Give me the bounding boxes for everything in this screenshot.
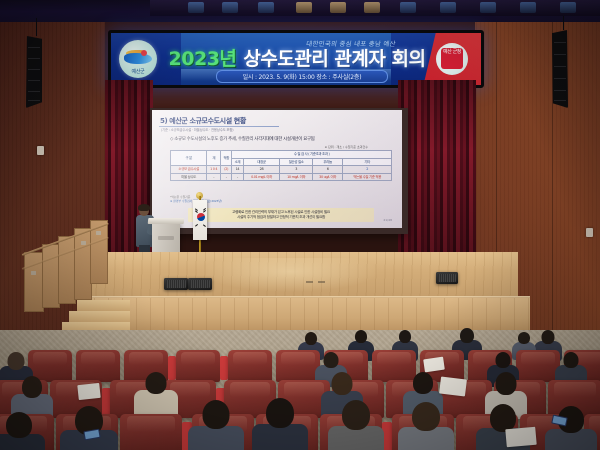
stage-light [520,2,536,13]
th-ecoli: 대장균 [243,158,280,166]
row-label: 소규모 급수시설 [171,166,207,174]
attendee [400,402,452,450]
stamp-label: 예산 군청 [443,50,461,67]
handout-paper [505,427,536,448]
cell: 먹는물 수질 기준 적용 [343,173,392,181]
stage-light [440,2,456,13]
th-division: 구 분 [171,151,207,166]
handout-paper [439,376,467,396]
stage-front-panel [80,298,530,332]
seat[interactable] [176,350,220,382]
stage-light [258,2,274,13]
cell: - [207,173,221,181]
seat-cushion [220,356,228,380]
table-header-row: 구 분 계 적합 수 질 검 사 ( 기준초과 초과 ) [171,151,392,159]
stage-light-pool [200,258,380,292]
yesan-stamp-icon: 예산 군청 [433,37,475,79]
slide-page-number: 21/48 [383,218,392,222]
auditorium-photo: 예산군 대한민국의 중심 내포 충남 예산 2023년 상수도관리 관계자 회의… [0,0,600,450]
stage-light [560,2,576,13]
line-array-speaker-left [26,36,42,108]
seat[interactable] [276,350,320,382]
stage-light [188,2,204,13]
slide-summary-box: 고령화로 인한 관리인력의 부재가 있고 노후된 시설로 인한 시설정비 필요 … [188,208,374,222]
th-nitrate: 질산성 질소 [280,158,312,166]
cell: 14 [232,166,243,174]
banner-title: 상수도관리 관계자 회의 [243,44,425,71]
floor-monitor-speaker [188,278,212,290]
cell: 0.01 mg/L 이하 [243,173,280,181]
line-array-speaker-right [552,30,568,108]
cell: - [221,173,232,181]
cell: (2) [221,166,232,174]
podium-emblem [158,236,174,240]
banner-subtitle-pill: 일시 : 2023. 5. 9(화) 15:00 장소 : 주사실(2층) [216,70,388,83]
attendee [330,400,382,450]
table-row: 소규모 급수시설 1 0 4 (2) 14 28 3 6 2 [171,166,392,174]
podium-top [148,218,185,224]
stage-mark [306,281,313,283]
attendee [254,398,306,450]
projection-screen: 5) 예산군 소규모수도시설 현황 (기준 : 소규모급수시설 · 마을상수도 … [152,110,402,228]
stage-light [222,2,238,13]
stage-light [296,2,312,13]
stage-curtain-right [398,80,476,280]
banner-title-row: 2023년 상수도관리 관계자 회의 [147,45,447,69]
th-total: 계 [207,151,221,166]
slide-subtitle: (기준 : 소규모급수시설 · 마을상수도 · 전용상수도 포함) [161,127,233,132]
banner-year: 2023년 [169,44,237,71]
table-row: 마을 상수도 - - - 0.01 mg/L 이하 10 mg/L 이하 30 … [171,173,392,181]
stage-mark [318,281,325,283]
th-uranium: 우라늄 [312,158,343,166]
slide-title: 5) 예산군 소규모수도시설 현황 [160,116,246,126]
th-etc: 기타 [343,158,392,166]
cell: 6 [312,166,343,174]
cell: 30 ug/L 이하 [312,173,343,181]
attendee [190,400,242,450]
cell: - [232,173,243,181]
attendee [62,406,116,450]
slide-bullet: ◇ 소규모 수도시설의 노후도 증가 추세, 수질관리 사각지대에 대한 시설개… [170,136,315,142]
slide-table: 구 분 계 적합 수 질 검 사 ( 기준초과 초과 ) 소계 대장균 질산성 … [170,150,392,181]
handout-paper [423,357,445,373]
seat[interactable] [228,350,272,382]
attendee [546,406,596,450]
cell: 28 [243,166,280,174]
wall-outlet [37,146,44,155]
korean-national-flag-icon [193,200,207,240]
attendee [136,372,176,416]
stage-light [330,2,346,13]
seat[interactable] [120,414,182,450]
attendee [0,412,44,450]
stage-light [400,2,416,13]
wall-outlet [586,228,593,237]
slide-unit-note: ※ 단위 : 개소 / 수질기준 초과건수 [325,145,368,149]
handout-paper [77,383,100,400]
th-subtotal: 소계 [232,158,243,166]
summary-line: 시설의 주기적 점검과 정밀하고 안정적 기준치 초과 개선이 필요함 [191,215,371,220]
row-label: 마을 상수도 [171,173,207,181]
logo-label: 예산군 [119,68,157,75]
th-group: 수 질 검 사 ( 기준초과 초과 ) [232,151,392,159]
cell: 10 mg/L 이하 [280,173,312,181]
floor-monitor-speaker [164,278,188,290]
cell: 3 [280,166,312,174]
cell: 1 0 4 [207,166,221,174]
stage-light [364,2,380,13]
th-pass: 적합 [221,151,232,166]
cell: 2 [343,166,392,174]
stage-light [480,2,496,13]
seat[interactable] [76,350,120,382]
floor-monitor-speaker [436,272,458,284]
banner-subtitle: 일시 : 2023. 5. 9(화) 15:00 장소 : 주사실(2층) [243,72,362,81]
